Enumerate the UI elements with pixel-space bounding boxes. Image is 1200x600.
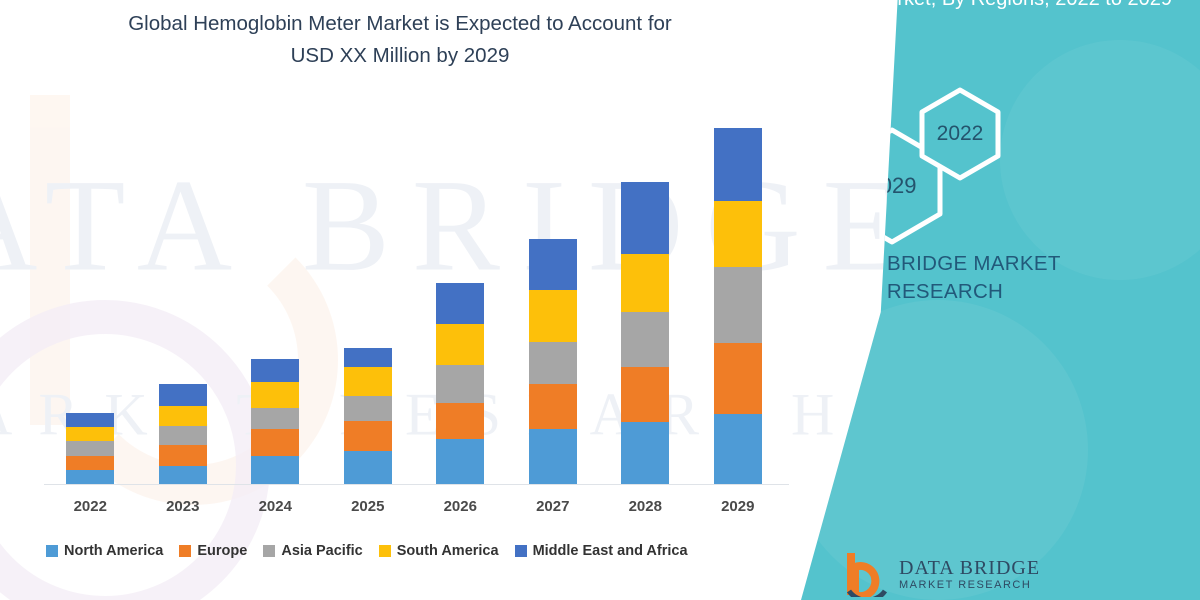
legend-item[interactable]: Asia Pacific [263,543,362,559]
bar-segment [436,403,484,440]
bar-2029 [714,128,762,485]
bar-2025 [344,348,392,485]
bar-segment [159,384,207,406]
bar-segment [714,414,762,485]
bar-segment [344,396,392,421]
hexagon-2022: 2022 [916,86,1004,182]
legend-label: South America [397,543,499,559]
bar-segment [251,429,299,455]
bar-segment [344,367,392,395]
panel-brand: DATA BRIDGE MARKET RESEARCH [780,250,1110,306]
bar-segment [714,343,762,414]
logo-mark-icon [845,551,889,597]
panel-brand-line1: DATA BRIDGE MARKET [780,250,1110,278]
hexagon-group: 2029 2022 [808,88,1068,238]
bar-segment [529,290,577,342]
bar-segment [529,342,577,384]
bar-segment [159,466,207,485]
bar-segment [251,359,299,381]
bar-segment [436,365,484,403]
bar-2028 [621,182,669,485]
bar-segment [251,408,299,429]
bar-2027 [529,239,577,485]
bar-segment [621,254,669,312]
bar-segment [344,421,392,450]
bar-segment [66,413,114,427]
bar-segment [66,470,114,485]
legend-label: North America [64,543,163,559]
bar-segment [621,422,669,485]
bar-2024 [251,359,299,485]
x-axis-label-2027: 2027 [513,498,593,515]
x-axis-label-2022: 2022 [50,498,130,515]
bar-segment [344,451,392,485]
legend-item[interactable]: Middle East and Africa [515,543,688,559]
bar-segment [66,427,114,441]
bar-2023 [159,384,207,485]
right-panel: Market, By Regions, 2022 to 2029 2029 20… [780,0,1200,600]
x-axis-label-2025: 2025 [328,498,408,515]
x-axis-label-2026: 2026 [420,498,500,515]
company-logo: DATA BRIDGE MARKET RESEARCH [845,548,1145,600]
chart-legend: North AmericaEuropeAsia PacificSouth Ame… [46,538,786,564]
x-axis-labels: 20222023202420252026202720282029 [44,498,784,522]
legend-label: Asia Pacific [281,543,362,559]
legend-item[interactable]: South America [379,543,499,559]
bar-segment [714,128,762,201]
bar-segment [159,426,207,445]
bar-segment [714,267,762,343]
legend-swatch-icon [46,545,58,557]
legend-item[interactable]: Europe [179,543,247,559]
x-axis-label-2023: 2023 [143,498,223,515]
bar-segment [66,441,114,455]
x-axis-label-2024: 2024 [235,498,315,515]
bar-segment [529,384,577,430]
bar-segment [159,445,207,465]
panel-title: Market, By Regions, 2022 to 2029 [842,0,1172,14]
legend-swatch-icon [263,545,275,557]
screenshot-root: DATA BRIDGE MARKET RESEARCH Global Hemog… [0,0,1200,600]
bar-segment [251,456,299,485]
logo-name: DATA BRIDGE [899,557,1040,579]
legend-swatch-icon [179,545,191,557]
bar-segment [66,456,114,470]
hexagon-2029-label: 2029 [868,173,917,199]
legend-label: Middle East and Africa [533,543,688,559]
legend-swatch-icon [515,545,527,557]
bar-segment [159,406,207,426]
bar-segment [529,429,577,485]
chart: 20222023202420252026202720282029 North A… [0,0,800,600]
bar-segment [436,283,484,324]
hexagon-2022-label: 2022 [937,122,984,146]
panel-brand-line2: RESEARCH [780,278,1110,306]
bar-segment [621,182,669,254]
x-axis-label-2028: 2028 [605,498,685,515]
plot-area [44,120,784,485]
bar-2022 [66,413,114,485]
x-axis-line [44,484,789,485]
bar-segment [344,348,392,367]
x-axis-label-2029: 2029 [698,498,778,515]
bar-segment [529,239,577,291]
bar-2026 [436,283,484,485]
legend-swatch-icon [379,545,391,557]
bar-segment [714,201,762,267]
legend-label: Europe [197,543,247,559]
bar-segment [251,382,299,408]
bar-segment [436,324,484,366]
bar-segment [621,367,669,422]
logo-tagline: MARKET RESEARCH [899,579,1040,591]
legend-item[interactable]: North America [46,543,163,559]
bar-segment [621,312,669,368]
bar-segment [436,439,484,485]
